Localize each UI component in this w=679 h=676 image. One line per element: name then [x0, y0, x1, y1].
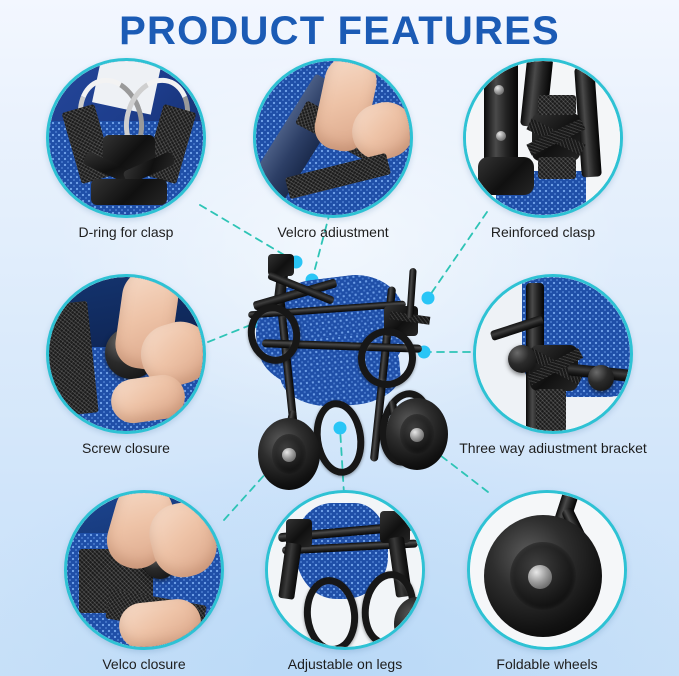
callout-bubble — [467, 490, 627, 650]
callout-three-way-adjustment-bracket[interactable]: Three way adiustment bracket — [473, 274, 633, 464]
velcro-strip-left — [49, 301, 99, 417]
callout-photo-d-ring — [49, 61, 203, 215]
clasp-webbing-bottom — [538, 157, 576, 179]
callout-d-ring-for-clasp[interactable]: D-ring for clasp — [46, 58, 206, 248]
callout-bubble — [46, 58, 206, 218]
callout-photo-adjustable-on-legs — [268, 493, 422, 647]
callout-label: D-ring for clasp — [79, 224, 174, 240]
clasp-webbing-top — [538, 95, 576, 115]
callout-bubble — [46, 274, 206, 434]
callout-label: Reinforced clasp — [491, 224, 595, 240]
callout-label: Velco closure — [102, 656, 185, 672]
callout-label: Three way adiustment bracket — [459, 440, 647, 456]
callout-photo-velcro-adjustment — [256, 61, 410, 215]
callout-bubble — [265, 490, 425, 650]
callout-label: Screw closure — [82, 440, 170, 456]
lower-bracket — [478, 157, 534, 195]
screw-dot-a — [494, 85, 504, 95]
callout-bubble — [64, 490, 224, 650]
callout-bubble — [473, 274, 633, 434]
callout-label: Foldable wheels — [496, 656, 597, 672]
bracket-webbing-lower — [536, 389, 566, 431]
callout-velcro-adjustment[interactable]: Velcro adiustment — [253, 58, 413, 248]
callout-bubble — [463, 58, 623, 218]
callout-photo-velco-closure — [67, 493, 221, 647]
callout-adjustable-on-legs[interactable]: Adjustable on legs — [265, 490, 425, 676]
callout-foldable-wheels[interactable]: Foldable wheels — [467, 490, 627, 676]
callout-screw-closure[interactable]: Screw closure — [46, 274, 206, 464]
side-knob — [508, 345, 536, 373]
center-product-image — [232, 250, 452, 512]
right-knob — [588, 365, 614, 391]
callout-label: Adjustable on legs — [288, 656, 402, 672]
screw-dot-b — [496, 131, 506, 141]
callout-photo-foldable-wheels — [470, 493, 624, 647]
callout-photo-screw-closure — [49, 277, 203, 431]
callout-label: Velcro adiustment — [277, 224, 388, 240]
product-features-poster: PRODUCT FEATURES — [0, 0, 679, 676]
callout-photo-reinforced-clasp — [466, 61, 620, 215]
wheel-left-hub — [282, 448, 296, 462]
callout-photo-three-way-bracket — [476, 277, 630, 431]
wheel-hub — [528, 565, 552, 589]
wheel-right-hub — [410, 428, 424, 442]
page-title: PRODUCT FEATURES — [0, 8, 679, 54]
clasp-base — [91, 179, 167, 205]
callout-bubble — [253, 58, 413, 218]
callout-reinforced-clasp[interactable]: Reinforced clasp — [463, 58, 623, 248]
callout-velco-closure[interactable]: Velco closure — [64, 490, 224, 676]
